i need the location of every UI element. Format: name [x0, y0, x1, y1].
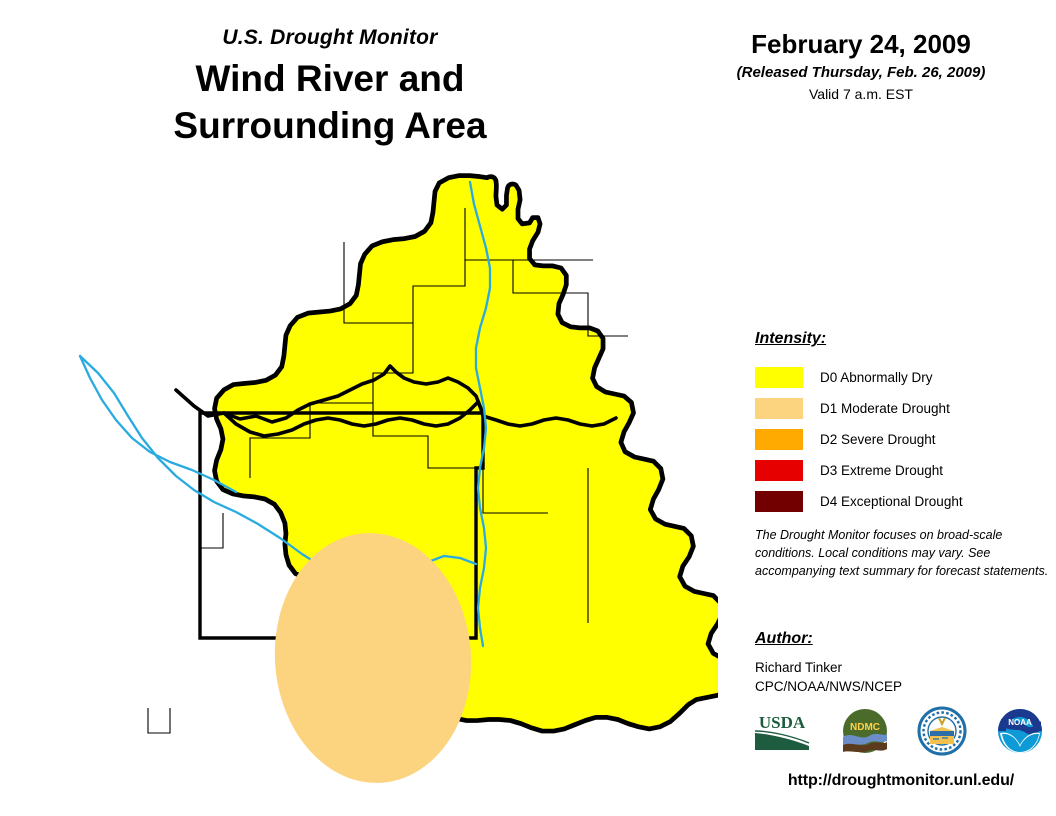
seal-shield-chief [930, 731, 954, 736]
legend-item-d0: D0 Abnormally Dry [755, 362, 1045, 392]
legend-rows: D0 Abnormally Dry D1 Moderate Drought D2… [755, 362, 1045, 516]
ndmc-logo-svg: NDMC [841, 707, 889, 755]
legend-label-d2: D2 Severe Drought [820, 432, 936, 447]
noaa-logo-svg: NOAA [996, 707, 1044, 755]
legend-swatch-d0 [755, 367, 803, 388]
legend-item-d3: D3 Extreme Drought [755, 455, 1045, 485]
legend-swatch-d1 [755, 398, 803, 419]
legend-item-d2: D2 Severe Drought [755, 424, 1045, 454]
drought-map[interactable] [28, 168, 718, 798]
valid-date: February 24, 2009 [696, 30, 1026, 60]
legend: Intensity: D0 Abnormally Dry D1 Moderate… [755, 330, 1045, 517]
valid-time: Valid 7 a.m. EST [696, 86, 1026, 102]
legend-label-d4: D4 Exceptional Drought [820, 494, 963, 509]
author-name: Richard Tinker [755, 659, 1045, 678]
author-heading: Author: [755, 630, 1045, 648]
author-affiliation: CPC/NOAA/NWS/NCEP [755, 678, 1045, 697]
usda-logo-svg: USDA [752, 709, 812, 753]
legend-swatch-d2 [755, 429, 803, 450]
legend-label-d3: D3 Extreme Drought [820, 463, 943, 478]
legend-heading: Intensity: [755, 330, 1045, 348]
legend-label-d1: D1 Moderate Drought [820, 401, 950, 416]
legend-item-d4: D4 Exceptional Drought [755, 486, 1045, 516]
ndmc-logo[interactable]: NDMC [841, 707, 889, 760]
legend-swatch-d3 [755, 460, 803, 481]
usda-field-shape [755, 733, 809, 750]
usda-wordmark: USDA [759, 713, 806, 732]
date-block: February 24, 2009 (Released Thursday, Fe… [696, 30, 1026, 102]
page-title: Wind River and Surrounding Area [0, 55, 660, 150]
usda-logo[interactable]: USDA [752, 709, 812, 758]
legend-item-d1: D1 Moderate Drought [755, 393, 1045, 423]
map-svg [28, 168, 718, 798]
drought-monitor-eyebrow: U.S. Drought Monitor [0, 26, 660, 49]
author-block: Author: Richard Tinker CPC/NOAA/NWS/NCEP [755, 630, 1045, 696]
release-date: (Released Thursday, Feb. 26, 2009) [696, 64, 1026, 81]
unl-seal-svg [917, 706, 967, 756]
noaa-logo[interactable]: NOAA [996, 707, 1044, 760]
unl-seal-logo[interactable] [917, 706, 967, 761]
legend-swatch-d4 [755, 491, 803, 512]
legend-label-d0: D0 Abnormally Dry [820, 370, 933, 385]
noaa-wordmark: NOAA [1008, 718, 1032, 727]
disclaimer-text: The Drought Monitor focuses on broad-sca… [755, 527, 1055, 580]
title-block: U.S. Drought Monitor Wind River and Surr… [0, 26, 660, 150]
website-url[interactable]: http://droughtmonitor.unl.edu/ [755, 772, 1047, 790]
ndmc-wordmark: NDMC [850, 722, 880, 733]
agency-logos: USDA NDMC [752, 702, 1044, 764]
